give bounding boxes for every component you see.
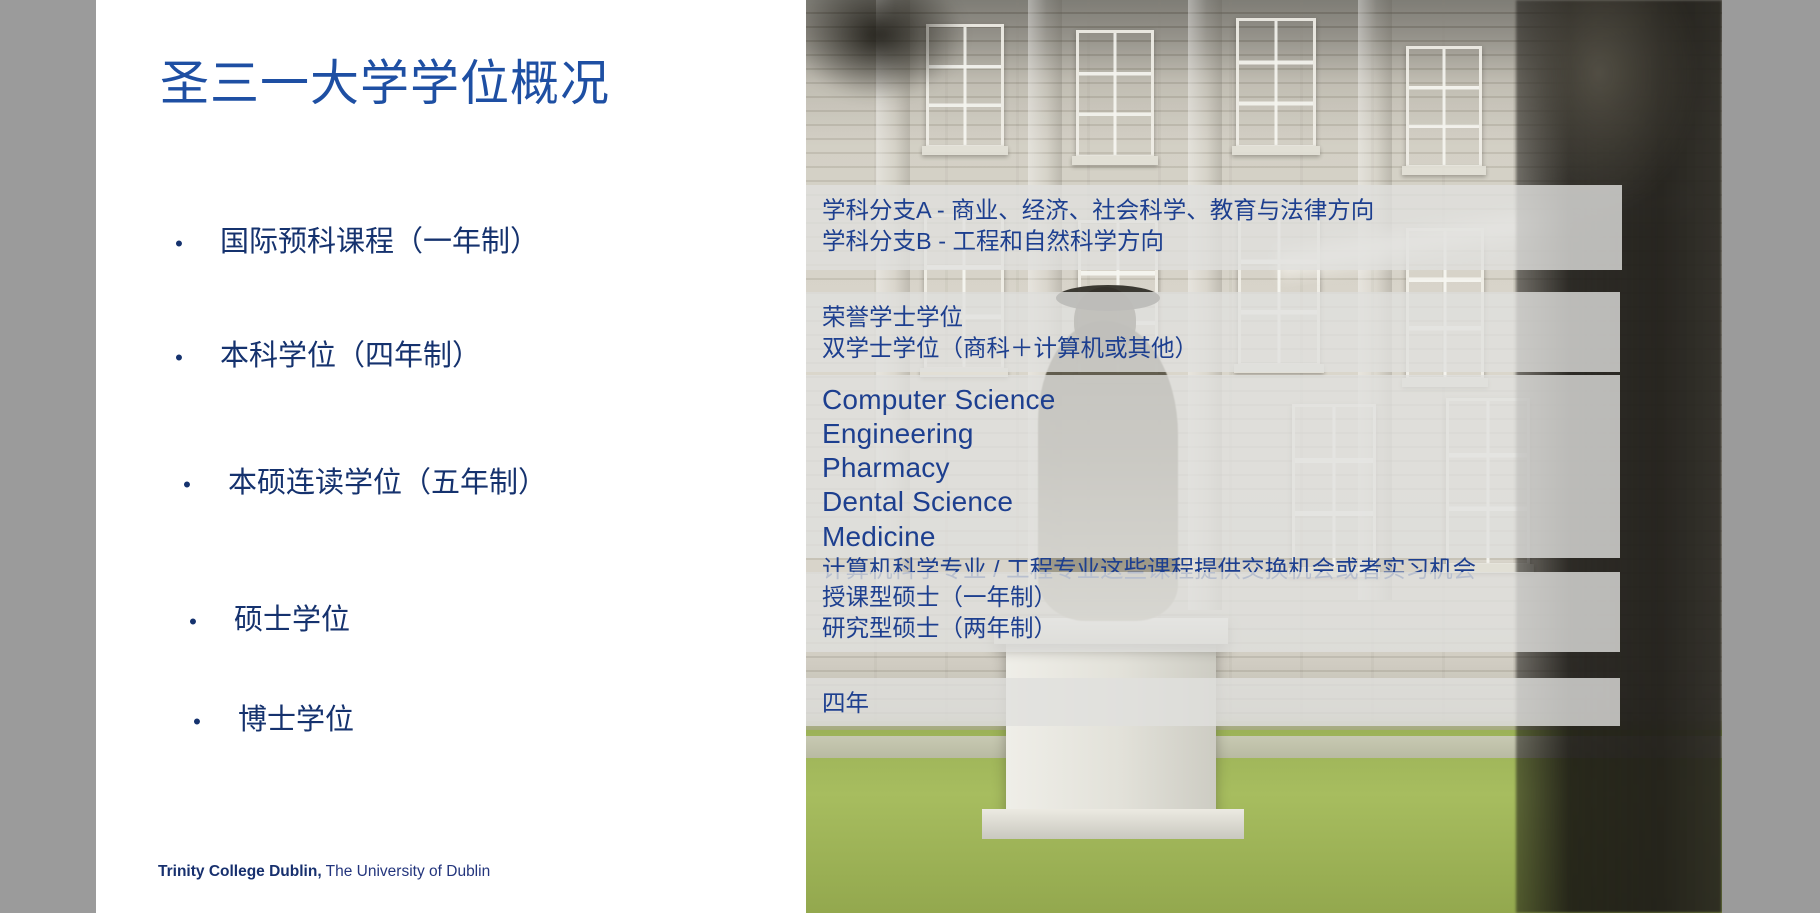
caption-line: 双学士学位（商科＋计算机或其他） <box>822 333 1606 364</box>
caption-bachelor: 荣誉学士学位 双学士学位（商科＋计算机或其他） <box>806 292 1620 372</box>
bullet-marker-icon: • <box>168 347 190 369</box>
photo-window <box>1236 18 1316 148</box>
left-gutter <box>0 0 96 913</box>
caption-line: Medicine <box>822 520 1606 554</box>
list-item: • 硕士学位 <box>168 596 798 638</box>
caption-line: 授课型硕士（一年制） <box>822 582 1606 613</box>
caption-line: 学科分支A - 商业、经济、社会科学、教育与法律方向 <box>822 195 1608 226</box>
caption-line: 四年 <box>822 688 1606 719</box>
caption-duration: 四年 <box>806 678 1620 726</box>
bullet-marker-icon: • <box>186 711 208 733</box>
bullet-marker-icon: • <box>182 611 204 633</box>
bullet-marker-icon: • <box>176 474 198 496</box>
logo-tagline-text: The University of Dublin <box>326 863 491 880</box>
presentation-slide: 圣三一大学学位概况 • 国际预科课程（一年制） • 本科学位（四年制） • 本硕… <box>96 0 1722 913</box>
list-item: • 本科学位（四年制） <box>168 332 798 374</box>
photo-window <box>1406 46 1482 168</box>
photo-window <box>1076 30 1154 158</box>
bullet-marker-icon: • <box>168 233 190 255</box>
bullet-list: • 国际预科课程（一年制） • 本科学位（四年制） • 本硕连读学位（五年制） … <box>168 218 798 738</box>
photo-statue-plinth <box>1006 642 1216 817</box>
page-title: 圣三一大学学位概况 <box>160 58 610 112</box>
list-item-label: 国际预科课程（一年制） <box>190 218 539 260</box>
slide-text-pane: 圣三一大学学位概况 • 国际预科课程（一年制） • 本科学位（四年制） • 本硕… <box>96 0 806 913</box>
caption-masters: 授课型硕士（一年制） 研究型硕士（两年制） <box>806 572 1620 652</box>
caption-programmes: Computer Science Engineering Pharmacy De… <box>806 375 1620 558</box>
list-item: • 本硕连读学位（五年制） <box>168 459 798 501</box>
caption-line: 荣誉学士学位 <box>822 302 1606 333</box>
campus-photo: 学科分支A - 商业、经济、社会科学、教育与法律方向 学科分支B - 工程和自然… <box>806 0 1722 913</box>
right-gutter <box>1722 0 1820 913</box>
slide-viewport: 圣三一大学学位概况 • 国际预科课程（一年制） • 本科学位（四年制） • 本硕… <box>0 0 1820 913</box>
photo-statue-base <box>982 809 1244 839</box>
list-item: • 国际预科课程（一年制） <box>168 218 798 260</box>
caption-streams: 学科分支A - 商业、经济、社会科学、教育与法律方向 学科分支B - 工程和自然… <box>806 185 1622 270</box>
list-item-label: 硕士学位 <box>204 596 350 638</box>
caption-line: Computer Science <box>822 383 1606 417</box>
caption-line: Dental Science <box>822 485 1606 519</box>
trinity-college-logo: Trinity College Dublin, The University o… <box>158 863 490 881</box>
logo-brand-text: Trinity College Dublin, <box>158 863 322 880</box>
caption-line: 研究型硕士（两年制） <box>822 613 1606 644</box>
caption-line: 学科分支B - 工程和自然科学方向 <box>822 226 1608 257</box>
list-item: • 博士学位 <box>168 696 798 738</box>
caption-line: Pharmacy <box>822 451 1606 485</box>
list-item-label: 博士学位 <box>208 696 354 738</box>
list-item-label: 本硕连读学位（五年制） <box>198 459 547 501</box>
photo-foreground-corner-blur <box>806 0 1016 110</box>
caption-line: Engineering <box>822 417 1606 451</box>
list-item-label: 本科学位（四年制） <box>190 332 481 374</box>
